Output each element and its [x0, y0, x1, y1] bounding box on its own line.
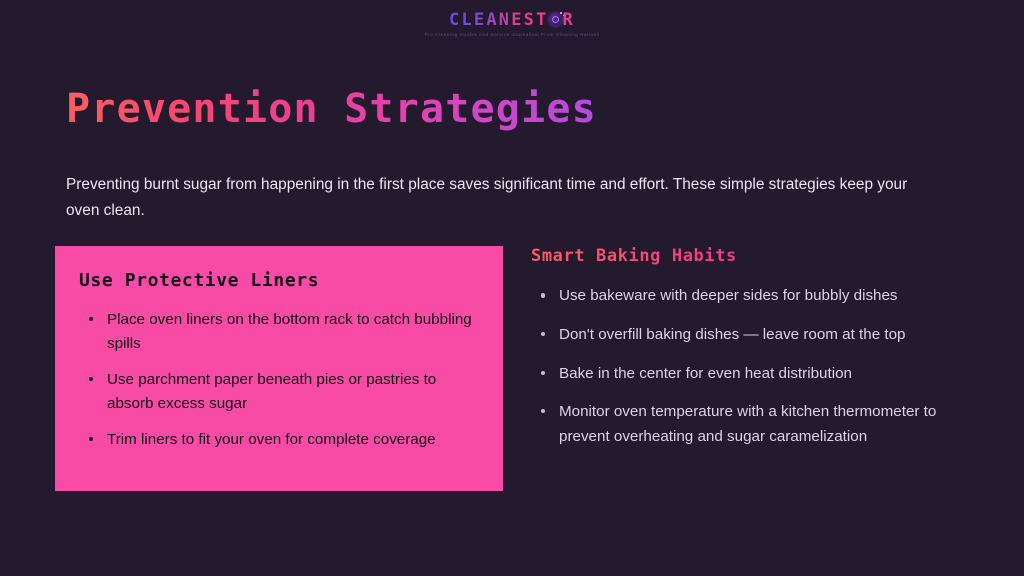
badge-ring — [549, 13, 562, 26]
bullet-list-right: Use bakeware with deeper sides for bubbl… — [527, 284, 975, 449]
column-left: Use Protective Liners Place oven liners … — [55, 246, 503, 491]
card-title-left: Use Protective Liners — [79, 270, 477, 292]
sparkle-icon — [560, 12, 562, 14]
card-title-right: Smart Baking Habits — [531, 246, 975, 266]
column-right: Smart Baking Habits Use bakeware with de… — [527, 246, 975, 464]
list-item: Use parchment paper beneath pies or past… — [77, 368, 477, 417]
bullet-list-left: Place oven liners on the bottom rack to … — [77, 308, 477, 453]
protective-liners-card: Use Protective Liners Place oven liners … — [55, 246, 503, 491]
list-item: Trim liners to fit your oven for complet… — [77, 428, 477, 453]
slide-root: CLEANESTR Pro Cleaning Guides And Servic… — [0, 0, 1024, 576]
brand-tagline: Pro Cleaning Guides And Service Journali… — [0, 33, 1024, 38]
page-title: Prevention Strategies — [66, 87, 597, 132]
content-columns: Use Protective Liners Place oven liners … — [55, 246, 975, 491]
list-item: Place oven liners on the bottom rack to … — [77, 308, 477, 357]
brand-wordmark-suffix: R — [563, 10, 575, 30]
list-item: Bake in the center for even heat distrib… — [527, 362, 975, 387]
brand-header: CLEANESTR Pro Cleaning Guides And Servic… — [0, 12, 1024, 38]
brand-wordmark-prefix: CLEANEST — [449, 10, 548, 30]
circle-badge-icon — [549, 13, 562, 26]
list-item: Monitor oven temperature with a kitchen … — [527, 400, 975, 449]
brand-wordmark: CLEANESTR — [449, 12, 575, 29]
list-item: Don't overfill baking dishes — leave roo… — [527, 323, 975, 348]
list-item: Use bakeware with deeper sides for bubbl… — [527, 284, 975, 309]
intro-paragraph: Preventing burnt sugar from happening in… — [66, 172, 944, 225]
